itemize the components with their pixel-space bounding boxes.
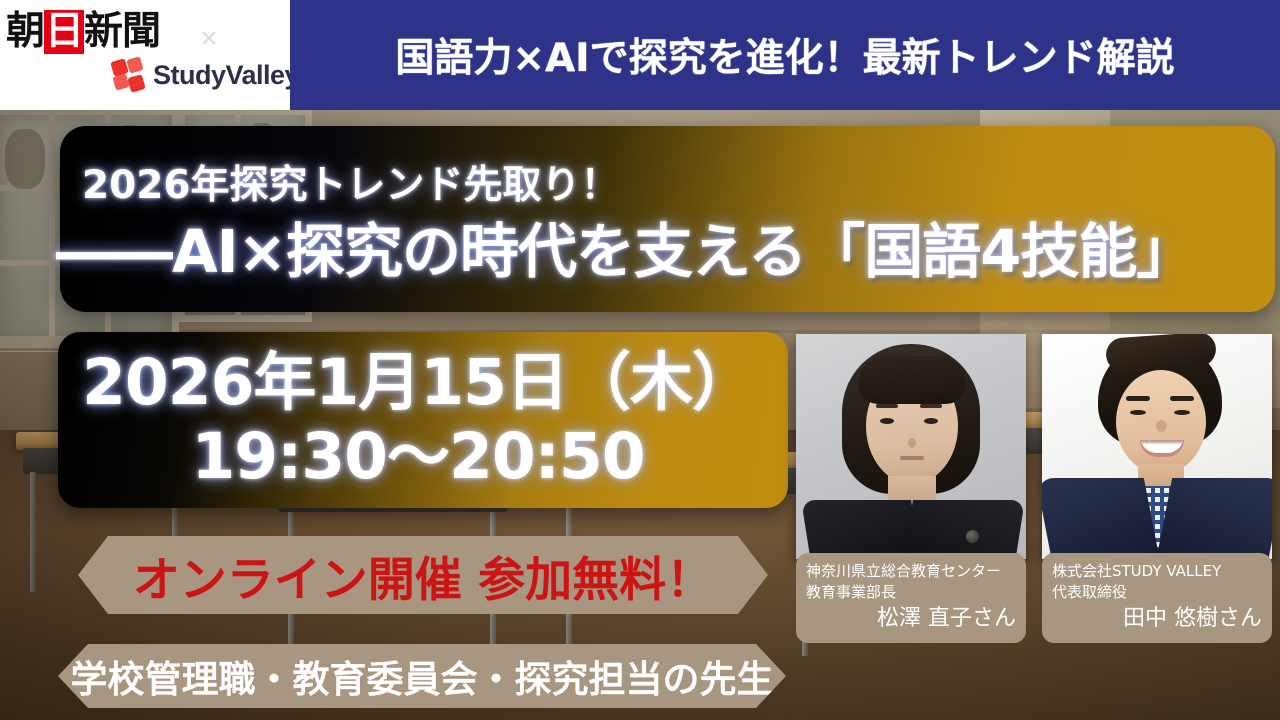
speaker-1-organization: 神奈川県立総合教育センター	[806, 561, 1016, 582]
speaker-2-title: 代表取締役	[1052, 582, 1262, 603]
logo-box: 朝 日 新 聞 × StudyValley	[0, 0, 290, 110]
speaker-1-title: 教育事業部長	[806, 582, 1016, 603]
header-banner-title: 国語力×AIで探究を進化！最新トレンド解説	[395, 27, 1174, 83]
studyvalley-mark-icon	[112, 58, 146, 92]
asahi-char-3: 新	[84, 10, 122, 54]
cross-icon: ×	[196, 26, 222, 52]
webinar-banner: 朝 日 新 聞 × StudyValley 国語力×AIで探究を進化！最新トレン…	[0, 0, 1280, 720]
online-free-ribbon: オンライン開催 参加無料！	[78, 536, 768, 614]
asahi-shimbun-logo: 朝 日 新 聞	[6, 10, 160, 54]
speaker-caption-1: 神奈川県立総合教育センター 教育事業部長 松澤 直子さん	[796, 553, 1026, 643]
online-free-label: オンライン開催 参加無料！	[133, 541, 713, 610]
title-line-2: ――AI×探究の時代を支える「国語4技能」	[56, 204, 1194, 289]
studyvalley-logo-text: StudyValley	[153, 60, 299, 91]
asahi-char-1: 朝	[6, 10, 44, 54]
asahi-char-4: 聞	[122, 10, 160, 54]
title-panel: 2026年探究トレンド先取り！ ――AI×探究の時代を支える「国語4技能」	[60, 126, 1275, 312]
studyvalley-logo: StudyValley	[112, 58, 299, 92]
title-line-1: 2026年探究トレンド先取り！	[82, 154, 620, 210]
speaker-2-name: 田中 悠樹さん	[1052, 605, 1262, 633]
speaker-photo-2	[1042, 334, 1272, 559]
event-date: 2026年1月15日（木）	[58, 346, 778, 420]
speaker-1-name: 松澤 直子さん	[806, 605, 1016, 633]
asahi-char-2: 日	[44, 10, 84, 54]
speaker-caption-2: 株式会社STUDY VALLEY 代表取締役 田中 悠樹さん	[1042, 553, 1272, 643]
speaker-photo-1	[796, 334, 1026, 559]
audience-label: 学校管理職・教育委員会・探究担当の先生	[71, 649, 774, 703]
speaker-card-2: 株式会社STUDY VALLEY 代表取締役 田中 悠樹さん	[1042, 334, 1272, 643]
speaker-card-1: 神奈川県立総合教育センター 教育事業部長 松澤 直子さん	[796, 334, 1026, 643]
speaker-2-organization: 株式会社STUDY VALLEY	[1052, 561, 1262, 582]
date-panel: 2026年1月15日（木） 19:30～20:50	[58, 332, 788, 508]
header-banner: 国語力×AIで探究を進化！最新トレンド解説	[290, 0, 1280, 110]
audience-ribbon: 学校管理職・教育委員会・探究担当の先生	[58, 644, 786, 708]
event-time: 19:30～20:50	[58, 420, 778, 494]
top-bar: 朝 日 新 聞 × StudyValley 国語力×AIで探究を進化！最新トレン…	[0, 0, 1280, 110]
